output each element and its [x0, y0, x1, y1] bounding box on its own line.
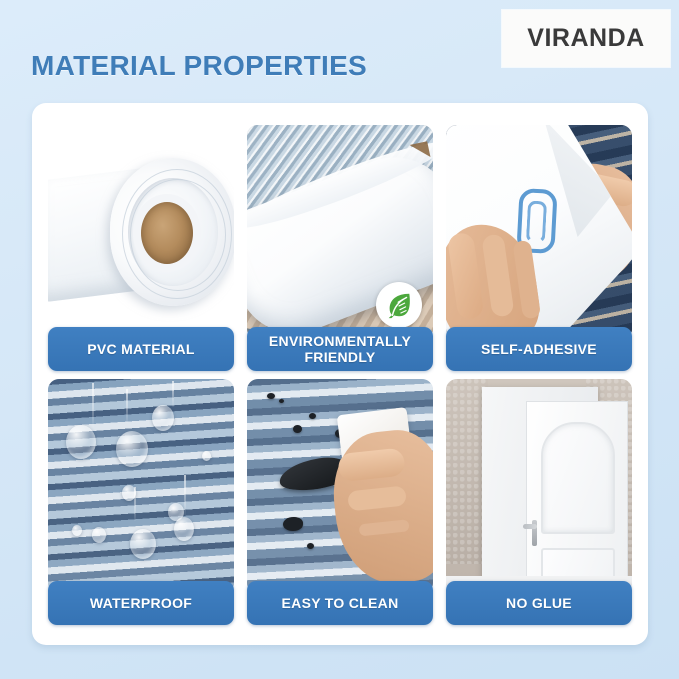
card-label-text: NO GLUE: [506, 595, 572, 611]
brand-name: VIRANDA: [527, 24, 644, 53]
feature-card-no-glue[interactable]: NO GLUE: [446, 379, 632, 625]
feature-card-pvc-material[interactable]: PVC MATERIAL: [48, 125, 234, 371]
waterproof-image: [48, 379, 234, 594]
pvc-roll-image: [48, 125, 234, 340]
feature-grid: PVC MATERIAL: [48, 125, 632, 625]
feature-card-easy-to-clean[interactable]: EASY TO CLEAN: [247, 379, 433, 625]
card-label-pvc-material: PVC MATERIAL: [48, 327, 234, 371]
card-label-text: ENVIRONMENTALLYFRIENDLY: [269, 333, 411, 365]
card-label-self-adhesive: SELF-ADHESIVE: [446, 327, 632, 371]
wallpaper-roll-image: [247, 125, 433, 340]
feature-card-environmentally-friendly[interactable]: ENVIRONMENTALLYFRIENDLY: [247, 125, 433, 371]
card-label-waterproof: WATERPROOF: [48, 581, 234, 625]
card-label-text: SELF-ADHESIVE: [481, 341, 597, 357]
leaf-icon: [376, 282, 422, 328]
card-label-text: EASY TO CLEAN: [282, 595, 399, 611]
feature-card-waterproof[interactable]: WATERPROOF: [48, 379, 234, 625]
no-glue-door-image: [446, 379, 632, 594]
easy-to-clean-image: [247, 379, 433, 594]
brand-logo-box: VIRANDA: [502, 10, 670, 67]
card-label-text: PVC MATERIAL: [87, 341, 195, 357]
feature-card-self-adhesive[interactable]: SELF-ADHESIVE: [446, 125, 632, 371]
paperclip-icon: [516, 188, 557, 254]
card-label-text: WATERPROOF: [90, 595, 192, 611]
card-label-environmentally-friendly: ENVIRONMENTALLYFRIENDLY: [247, 327, 433, 371]
feature-panel: PVC MATERIAL: [32, 103, 648, 645]
card-label-easy-to-clean: EASY TO CLEAN: [247, 581, 433, 625]
page-title: MATERIAL PROPERTIES: [31, 50, 367, 82]
card-label-no-glue: NO GLUE: [446, 581, 632, 625]
self-adhesive-image: [446, 125, 632, 340]
